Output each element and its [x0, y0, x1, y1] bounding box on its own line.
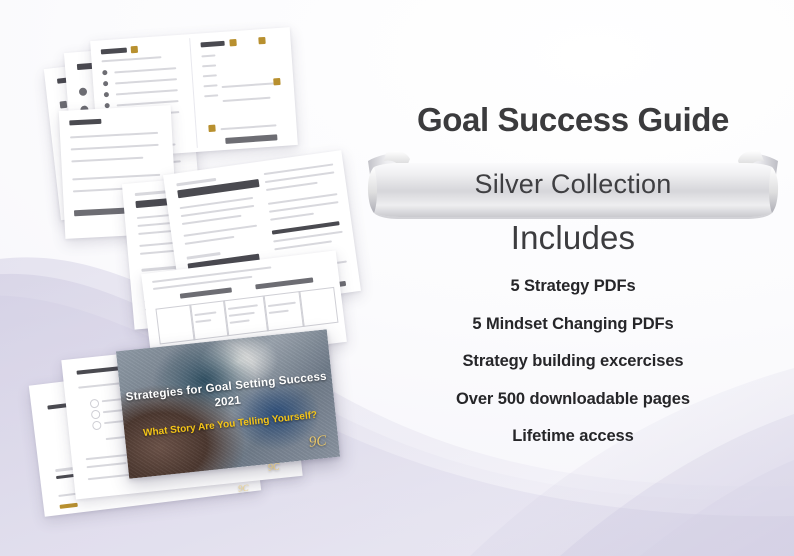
product-mockup-cluster: Strategies for Goal Setting Success 2021…: [0, 0, 400, 556]
page-footer-logo: 9C: [238, 482, 250, 493]
list-item: 5 Strategy PDFs: [352, 278, 794, 295]
includes-heading: Includes: [352, 219, 794, 257]
promo-text-panel: Goal Success Guide: [352, 0, 794, 556]
page-footer-logo: 9C: [267, 461, 280, 473]
cover-logo-monogram: 9C: [308, 433, 327, 452]
silver-ribbon-banner: Silver Collection: [360, 147, 786, 221]
list-item: 5 Mindset Changing PDFs: [352, 316, 794, 333]
page-title: Goal Success Guide: [352, 101, 794, 139]
feature-list: 5 Strategy PDFs 5 Mindset Changing PDFs …: [352, 278, 794, 466]
list-item: Lifetime access: [352, 428, 794, 445]
promo-graphic: Strategies for Goal Setting Success 2021…: [0, 0, 794, 556]
list-item: Over 500 downloadable pages: [352, 391, 794, 408]
list-item: Strategy building excercises: [352, 353, 794, 370]
ribbon-label: Silver Collection: [360, 169, 786, 200]
guide-cover-image: Strategies for Goal Setting Success 2021…: [116, 329, 340, 478]
